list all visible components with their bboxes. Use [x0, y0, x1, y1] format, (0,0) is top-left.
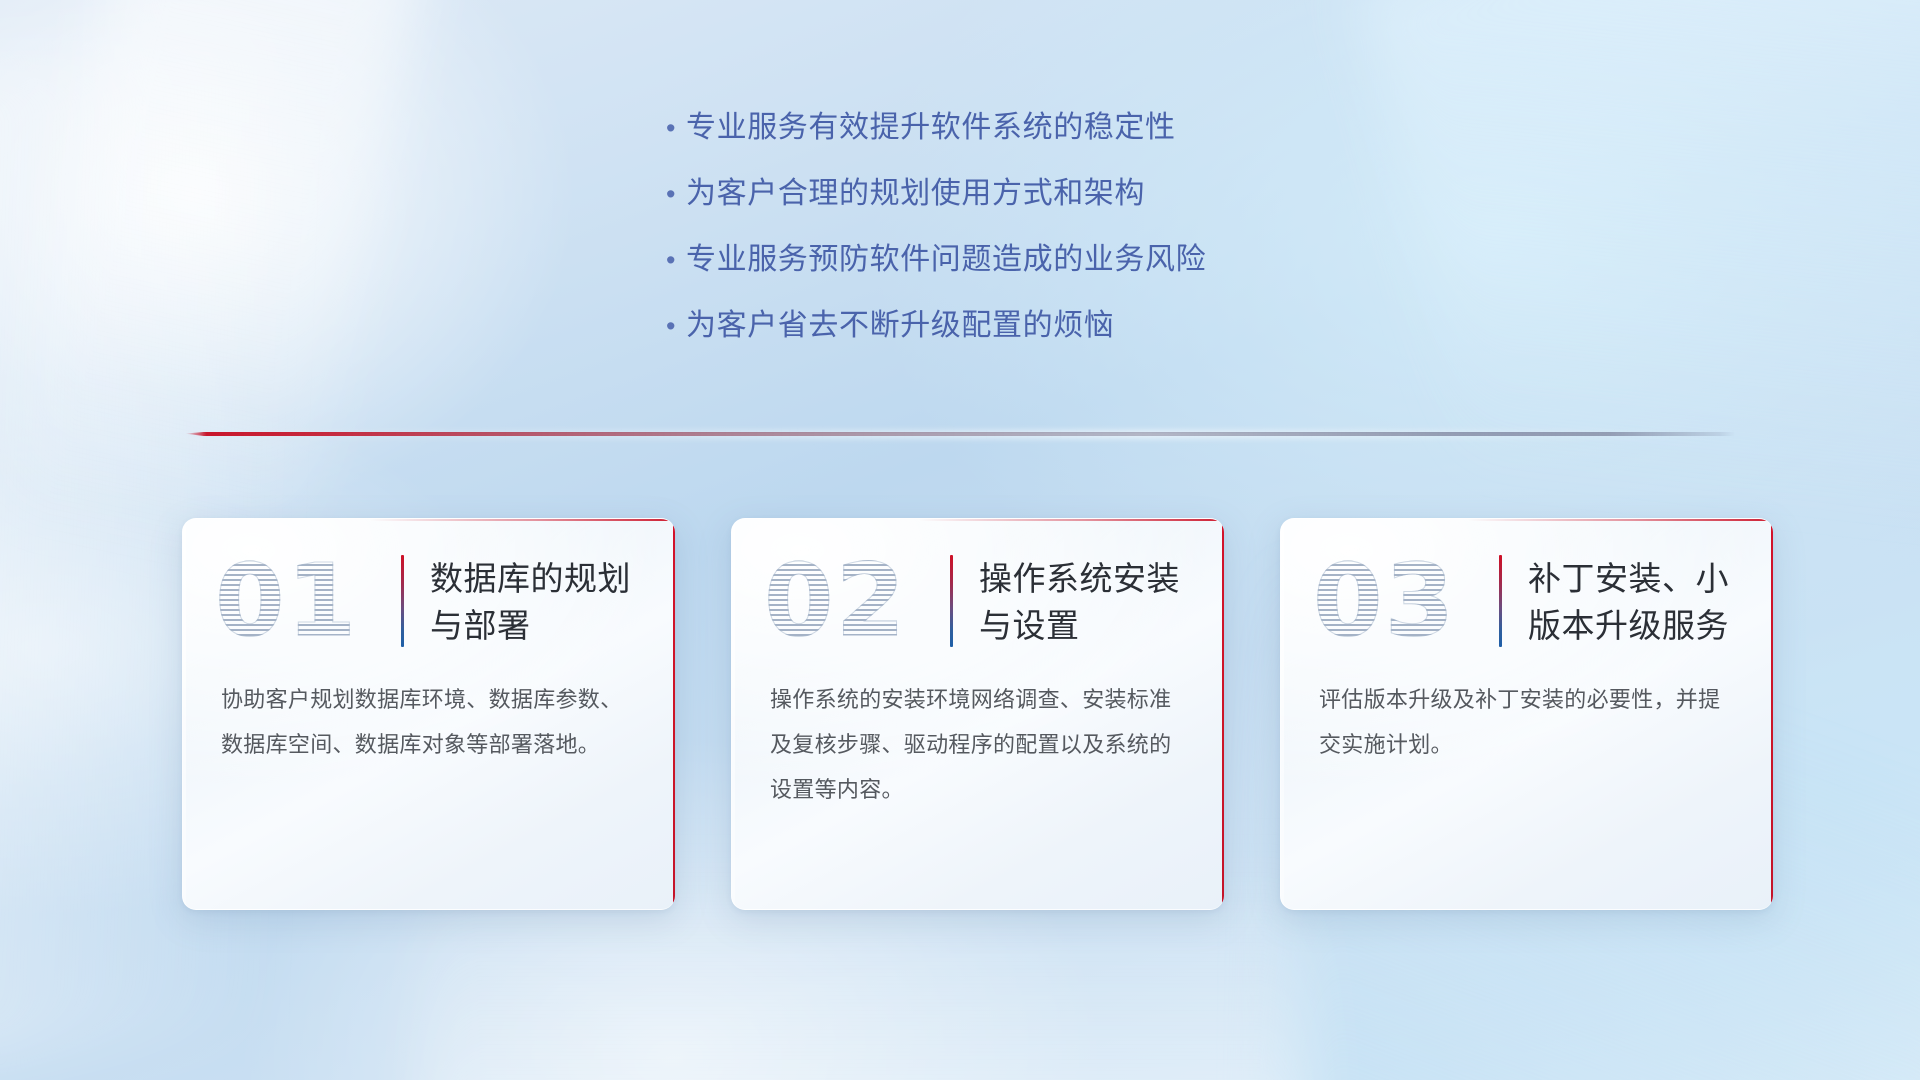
divider-sheen [185, 430, 1735, 439]
card-header: 03 补丁安装、小 版本升级服务 [1281, 519, 1773, 659]
bullet-dot-icon: • [660, 306, 686, 346]
list-item: • 为客户省去不断升级配置的烦恼 [660, 306, 1420, 346]
card-title: 补丁安装、小 版本升级服务 [1528, 549, 1729, 649]
bullet-text: 专业服务预防软件问题造成的业务风险 [686, 240, 1206, 280]
bullet-text: 为客户省去不断升级配置的烦恼 [686, 306, 1114, 346]
card-description: 操作系统的安装环境网络调查、安装标准及复核步骤、驱动程序的配置以及系统的设置等内… [732, 659, 1224, 812]
slide-canvas: • 专业服务有效提升软件系统的稳定性 • 为客户合理的规划使用方式和架构 • 专… [0, 0, 1920, 1080]
section-divider [185, 430, 1735, 442]
bullet-text: 专业服务有效提升软件系统的稳定性 [686, 108, 1176, 148]
card-number: 02 [764, 549, 950, 653]
card-divider-bar [401, 555, 404, 647]
card-description: 协助客户规划数据库环境、数据库参数、数据库空间、数据库对象等部署落地。 [183, 659, 675, 767]
card-number: 03 [1313, 549, 1499, 653]
list-item: • 专业服务预防软件问题造成的业务风险 [660, 240, 1420, 280]
bullet-dot-icon: • [660, 174, 686, 214]
service-card[interactable]: 01 数据库的规划 与部署 协助客户规划数据库环境、数据库参数、数据库空间、数据… [182, 518, 675, 910]
bullet-dot-icon: • [660, 108, 686, 148]
card-divider-bar [1499, 555, 1502, 647]
service-card[interactable]: 03 补丁安装、小 版本升级服务 评估版本升级及补丁安装的必要性，并提交实施计划… [1280, 518, 1773, 910]
benefits-bullet-list: • 专业服务有效提升软件系统的稳定性 • 为客户合理的规划使用方式和架构 • 专… [660, 108, 1420, 372]
list-item: • 为客户合理的规划使用方式和架构 [660, 174, 1420, 214]
card-title: 数据库的规划 与部署 [430, 549, 631, 649]
card-title: 操作系统安装 与设置 [979, 549, 1180, 649]
bullet-dot-icon: • [660, 240, 686, 280]
service-card[interactable]: 02 操作系统安装 与设置 操作系统的安装环境网络调查、安装标准及复核步骤、驱动… [731, 518, 1224, 910]
card-divider-bar [950, 555, 953, 647]
list-item: • 专业服务有效提升软件系统的稳定性 [660, 108, 1420, 148]
bullet-text: 为客户合理的规划使用方式和架构 [686, 174, 1145, 214]
service-card-group: 01 数据库的规划 与部署 协助客户规划数据库环境、数据库参数、数据库空间、数据… [182, 518, 1774, 910]
card-number: 01 [215, 549, 401, 653]
card-header: 02 操作系统安装 与设置 [732, 519, 1224, 659]
card-description: 评估版本升级及补丁安装的必要性，并提交实施计划。 [1281, 659, 1773, 767]
card-header: 01 数据库的规划 与部署 [183, 519, 675, 659]
